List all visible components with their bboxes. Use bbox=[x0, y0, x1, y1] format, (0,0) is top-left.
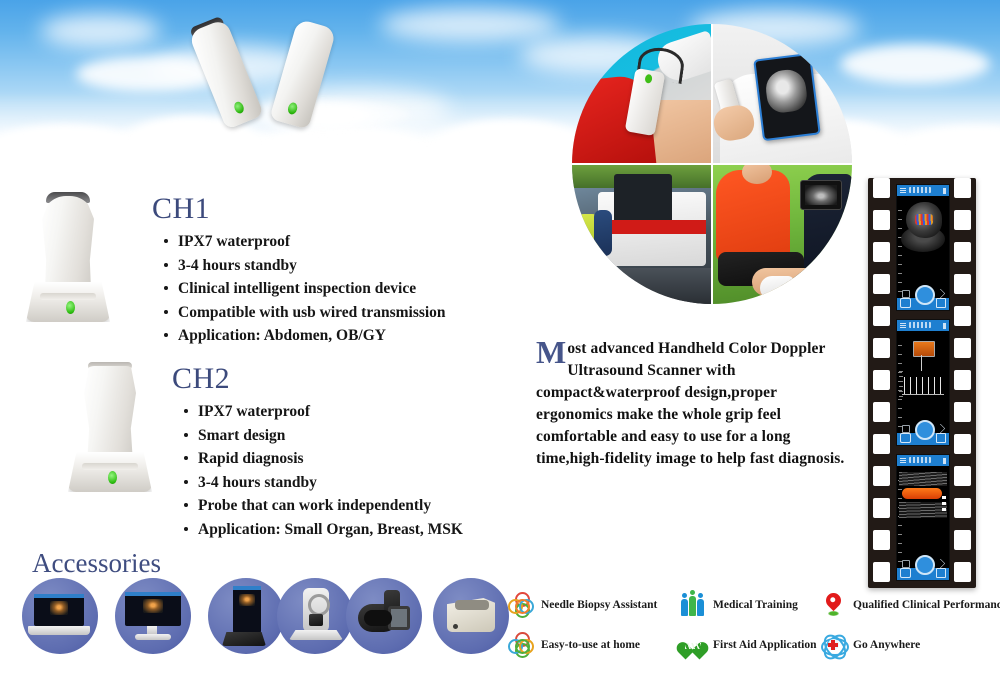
feature-needle-biopsy[interactable]: Needle Biopsy Assistant bbox=[508, 592, 657, 618]
film-hole bbox=[954, 498, 971, 518]
stand-foot bbox=[289, 630, 343, 640]
feature-first-aid-application[interactable]: First Aid Application bbox=[680, 632, 817, 658]
preset-icon[interactable] bbox=[900, 433, 911, 443]
feature-go-anywhere[interactable]: Go Anywhere bbox=[820, 632, 920, 658]
feature-item: IPX7 waterproof bbox=[198, 400, 463, 424]
menu-icon[interactable] bbox=[900, 323, 906, 328]
preset-icon[interactable] bbox=[900, 568, 911, 578]
monitor-ultrasound-image bbox=[143, 599, 163, 613]
gallery-icon[interactable] bbox=[936, 433, 946, 443]
monitor-stand bbox=[135, 634, 171, 640]
vessel-color-flow bbox=[902, 488, 942, 499]
product-block-ch2 bbox=[62, 362, 158, 492]
feature-label: First Aid Application bbox=[713, 639, 817, 651]
film-hole bbox=[954, 178, 971, 198]
ground bbox=[572, 268, 712, 304]
location-pin-icon bbox=[820, 592, 846, 618]
film-hole bbox=[873, 402, 890, 422]
scan-button[interactable] bbox=[915, 420, 935, 440]
phone-app-bar bbox=[233, 586, 261, 590]
athlete-shoe bbox=[760, 276, 794, 300]
accessory-monitor[interactable] bbox=[115, 578, 191, 654]
product-poster: CH1 IPX7 waterproof 3-4 hours standby Cl… bbox=[0, 0, 1000, 683]
feature-label: Go Anywhere bbox=[853, 639, 920, 651]
product-block-ch1 bbox=[20, 192, 116, 322]
film-hole bbox=[873, 274, 890, 294]
strap-band bbox=[364, 610, 392, 626]
measure-icon[interactable] bbox=[902, 560, 910, 568]
ultrasound-screen-color-doppler bbox=[896, 184, 950, 311]
film-hole bbox=[873, 306, 890, 326]
gallery-icon[interactable] bbox=[936, 298, 946, 308]
color-bar bbox=[942, 496, 946, 512]
feature-item: 3-4 hours standby bbox=[178, 254, 446, 278]
charge-led-indicator bbox=[66, 301, 75, 314]
stand-connector bbox=[309, 614, 323, 626]
accessory-probe-cradle[interactable] bbox=[433, 578, 509, 654]
color-flow-box bbox=[913, 341, 935, 357]
film-hole bbox=[954, 434, 971, 454]
feature-label: Needle Biopsy Assistant bbox=[541, 599, 657, 611]
gallery-icon[interactable] bbox=[936, 568, 946, 578]
monitor-app-bar bbox=[125, 592, 181, 596]
heart-pulse-icon bbox=[680, 632, 706, 658]
ultrasound-screen-spectral-doppler bbox=[896, 319, 950, 446]
film-hole bbox=[954, 530, 971, 550]
film-hole bbox=[954, 242, 971, 262]
film-hole bbox=[873, 434, 890, 454]
collage-quadrant-clinical-exam bbox=[572, 24, 712, 164]
ambulance-stripe bbox=[598, 220, 706, 234]
collage-quadrant-sports-field bbox=[712, 164, 852, 304]
app-top-bar bbox=[897, 185, 949, 196]
preset-icon[interactable] bbox=[900, 298, 911, 308]
clover-home-icon bbox=[508, 632, 534, 658]
collage-quadrant-ambulance bbox=[572, 164, 712, 304]
more-icon[interactable] bbox=[943, 323, 946, 329]
feature-item: Application: Small Organ, Breast, MSK bbox=[198, 518, 463, 542]
cloud bbox=[76, 56, 216, 92]
ultrasound-screen-vascular-flow bbox=[896, 454, 950, 581]
ultrasound-image-area bbox=[897, 466, 949, 560]
feature-icon-grid: Needle Biopsy Assistant Medical Training… bbox=[508, 592, 1000, 664]
accessories-heading: Accessories bbox=[32, 548, 161, 579]
scan-button[interactable] bbox=[915, 285, 935, 305]
feature-item: Application: Abdomen, OB/GY bbox=[178, 324, 446, 348]
laptop-keyboard bbox=[28, 626, 90, 635]
ultrasound-image-area bbox=[897, 196, 949, 290]
fullscreen-icon[interactable] bbox=[936, 424, 946, 434]
feature-easy-to-use-at-home[interactable]: Easy-to-use at home bbox=[508, 632, 640, 658]
dock-base bbox=[222, 632, 266, 646]
feature-label: Qualified Clinical Performance bbox=[853, 599, 1000, 611]
menu-icon[interactable] bbox=[900, 458, 906, 463]
cradle-slot bbox=[455, 600, 489, 610]
ultrasound-image-area bbox=[897, 331, 949, 425]
accessory-charging-stand[interactable] bbox=[277, 578, 353, 654]
product-text-ch1: CH1 IPX7 waterproof 3-4 hours standby Cl… bbox=[152, 194, 446, 348]
charge-led-indicator bbox=[108, 471, 117, 484]
film-hole bbox=[873, 370, 890, 390]
feature-item: Probe that can work independently bbox=[198, 494, 463, 518]
film-hole bbox=[954, 370, 971, 390]
scan-button[interactable] bbox=[915, 555, 935, 575]
fullscreen-icon[interactable] bbox=[936, 559, 946, 569]
paramedic bbox=[594, 210, 612, 256]
fullscreen-icon[interactable] bbox=[936, 289, 946, 299]
accessory-phone-dock[interactable] bbox=[208, 578, 284, 654]
app-title-text bbox=[909, 457, 931, 463]
film-hole bbox=[873, 210, 890, 230]
organ-with-color-flow bbox=[906, 202, 942, 238]
film-perforations-right bbox=[954, 178, 971, 588]
more-icon[interactable] bbox=[943, 188, 946, 194]
cloud bbox=[40, 14, 160, 48]
swirl-cross-icon bbox=[820, 632, 846, 658]
people-m-icon bbox=[680, 592, 706, 618]
product-description: Most advanced Handheld Color Doppler Ult… bbox=[536, 338, 848, 470]
stand-ring bbox=[308, 594, 330, 616]
product-title-ch2: CH2 bbox=[172, 364, 463, 394]
film-hole bbox=[873, 242, 890, 262]
dock-slot bbox=[82, 463, 138, 470]
spectral-waveform bbox=[902, 377, 944, 395]
product-image-ch2 bbox=[62, 362, 158, 492]
product-text-ch2: CH2 IPX7 waterproof Smart design Rapid d… bbox=[172, 364, 463, 541]
feature-item: 3-4 hours standby bbox=[198, 471, 463, 495]
feature-item: Rapid diagnosis bbox=[198, 447, 463, 471]
app-title-text bbox=[909, 187, 931, 193]
collage-quadrant-tablet-scan bbox=[712, 24, 852, 164]
film-hole bbox=[954, 210, 971, 230]
app-top-bar bbox=[897, 455, 949, 466]
measure-icon[interactable] bbox=[902, 425, 910, 433]
feature-item: Smart design bbox=[198, 424, 463, 448]
feature-list-ch2: IPX7 waterproof Smart design Rapid diagn… bbox=[172, 400, 463, 541]
feature-label: Medical Training bbox=[713, 599, 798, 611]
athlete-torso bbox=[716, 170, 790, 262]
film-hole bbox=[873, 530, 890, 550]
feature-label: Easy-to-use at home bbox=[541, 639, 640, 651]
film-hole bbox=[954, 402, 971, 422]
feature-item: Compatible with usb wired transmission bbox=[178, 301, 446, 325]
measure-icon[interactable] bbox=[902, 290, 910, 298]
cloud bbox=[380, 8, 560, 42]
description-dropcap: M bbox=[536, 340, 566, 365]
app-top-bar bbox=[897, 320, 949, 331]
app-title-text bbox=[909, 322, 931, 328]
doppler-gate-line bbox=[921, 355, 922, 371]
depth-scale bbox=[898, 210, 902, 296]
feature-item: Clinical intelligent inspection device bbox=[178, 277, 446, 301]
film-hole bbox=[873, 562, 890, 582]
cradle-indicator bbox=[453, 624, 458, 629]
film-hole bbox=[954, 306, 971, 326]
tissue-layer-upper bbox=[899, 472, 947, 486]
laptop-ultrasound-image bbox=[50, 601, 68, 615]
tablet-display bbox=[753, 53, 821, 141]
application-photo-collage bbox=[572, 24, 852, 304]
film-frames bbox=[896, 184, 948, 589]
film-perforations-left bbox=[873, 178, 890, 588]
laptop-app-bar bbox=[34, 594, 84, 598]
film-hole bbox=[954, 562, 971, 582]
film-hole bbox=[873, 178, 890, 198]
product-image-ch1 bbox=[20, 192, 116, 322]
collage-divider-horizontal bbox=[572, 163, 852, 165]
feature-list-ch1: IPX7 waterproof 3-4 hours standby Clinic… bbox=[152, 230, 446, 348]
portable-monitor bbox=[800, 180, 842, 210]
feature-qualified-clinical-performance[interactable]: Qualified Clinical Performance bbox=[820, 592, 1000, 618]
film-hole bbox=[954, 466, 971, 486]
accessories-row bbox=[22, 578, 502, 658]
cloud bbox=[840, 44, 990, 84]
dock-slot bbox=[40, 293, 96, 300]
product-title-ch1: CH1 bbox=[152, 194, 446, 224]
feature-medical-training[interactable]: Medical Training bbox=[680, 592, 798, 618]
film-hole bbox=[873, 338, 890, 358]
feature-item: IPX7 waterproof bbox=[178, 230, 446, 254]
clover-cross-icon bbox=[508, 592, 534, 618]
phone-ultrasound-image bbox=[239, 594, 255, 606]
film-hole bbox=[873, 466, 890, 486]
film-hole bbox=[954, 274, 971, 294]
tissue-layer-lower bbox=[899, 502, 947, 518]
description-text: ost advanced Handheld Color Doppler Ultr… bbox=[536, 340, 844, 467]
film-hole bbox=[873, 498, 890, 518]
menu-icon[interactable] bbox=[900, 188, 906, 193]
more-icon[interactable] bbox=[943, 458, 946, 464]
film-strip bbox=[868, 178, 976, 588]
accessory-strap-holster[interactable] bbox=[346, 578, 422, 654]
film-hole bbox=[954, 338, 971, 358]
accessory-laptop[interactable] bbox=[22, 578, 98, 654]
